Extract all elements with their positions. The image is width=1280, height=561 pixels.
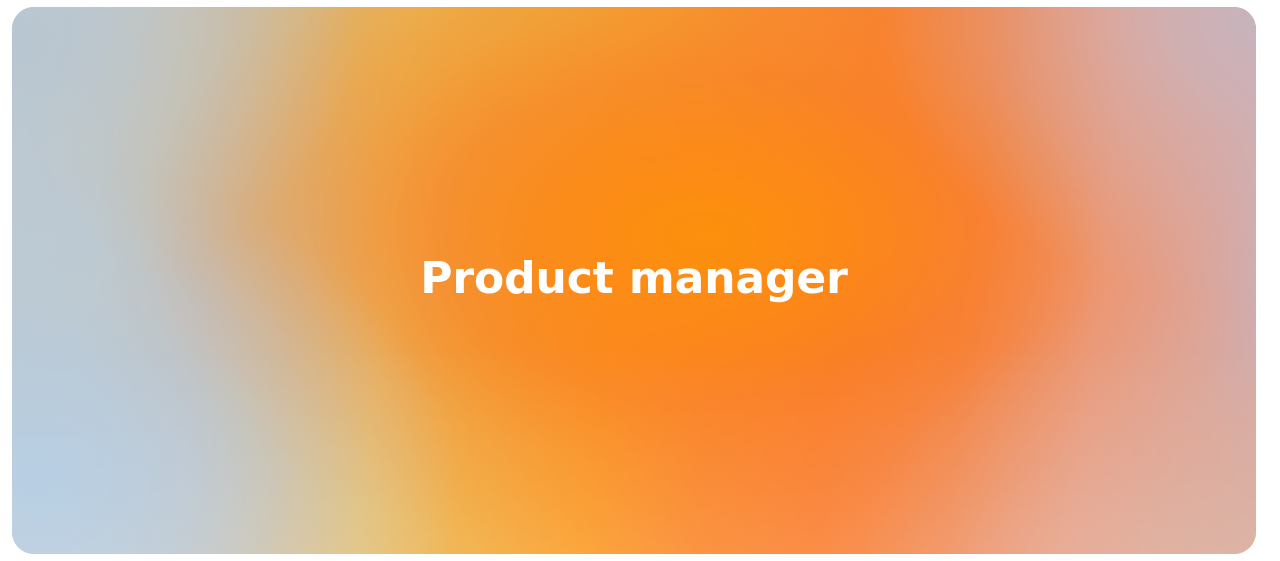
- page-canvas: Product manager: [0, 0, 1280, 561]
- hero-content: Product manager: [12, 7, 1256, 554]
- hero-gradient-banner: Product manager: [12, 7, 1256, 554]
- hero-title: Product manager: [420, 257, 848, 301]
